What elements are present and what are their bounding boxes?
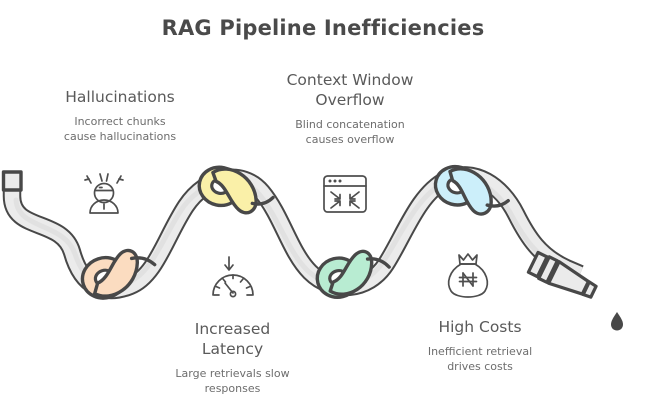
confused-person-icon <box>85 174 123 213</box>
label-hallucinations: Hallucinations Incorrect chunks cause ha… <box>35 88 205 145</box>
label-hallucinations-subtitle: Incorrect chunks cause hallucinations <box>35 115 205 145</box>
label-high-costs-subtitle: Inefficient retrieval drives costs <box>385 345 575 375</box>
label-context-window-overflow: Context Window Overflow Blind concatenat… <box>250 71 450 147</box>
browser-window-compress-icon <box>324 176 366 212</box>
speedometer-down-arrow-icon <box>213 257 253 297</box>
label-context-window-overflow-heading: Context Window Overflow <box>250 71 450 111</box>
hose-open-end <box>4 172 22 190</box>
label-increased-latency-subtitle: Large retrievals slow responses <box>140 367 325 397</box>
label-context-window-overflow-subtitle: Blind concatenation causes overflow <box>250 118 450 148</box>
money-bag-naira-icon <box>449 254 488 297</box>
label-increased-latency: Increased Latency Large retrievals slow … <box>140 320 325 396</box>
water-drop-icon <box>611 312 623 331</box>
label-hallucinations-heading: Hallucinations <box>35 88 205 108</box>
page-title: RAG Pipeline Inefficiencies <box>0 16 646 40</box>
label-high-costs: High Costs Inefficient retrieval drives … <box>385 318 575 375</box>
label-high-costs-heading: High Costs <box>385 318 575 338</box>
label-increased-latency-heading: Increased Latency <box>140 320 325 360</box>
